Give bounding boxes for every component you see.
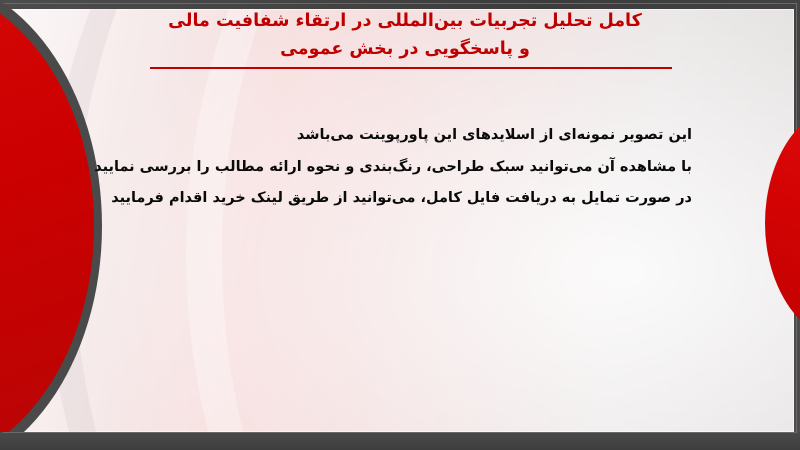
slide-title: کامل تحلیل تجربیات بین‌المللی در ارتقاء … <box>120 8 690 69</box>
body-line-3: در صورت تمایل به دریافت فایل کامل، می‌تو… <box>120 183 692 215</box>
title-underline <box>150 67 672 69</box>
bottom-dark-band <box>0 432 800 450</box>
title-line-2: و پاسخگویی در بخش عمومی <box>120 36 690 64</box>
slide-content-panel <box>6 9 794 432</box>
decorative-arc-bands <box>6 9 794 432</box>
body-line-2: با مشاهده آن می‌توانید سبک طراحی، رنگ‌بن… <box>120 152 692 184</box>
slide-body-text: این تصویر نمونه‌ای از اسلایدهای این پاور… <box>120 120 692 215</box>
arc-band-7 <box>186 9 794 432</box>
presentation-slide: کامل تحلیل تجربیات بین‌المللی در ارتقاء … <box>0 0 800 450</box>
title-line-1: کامل تحلیل تجربیات بین‌المللی در ارتقاء … <box>120 8 690 36</box>
body-line-1: این تصویر نمونه‌ای از اسلایدهای این پاور… <box>120 120 692 152</box>
